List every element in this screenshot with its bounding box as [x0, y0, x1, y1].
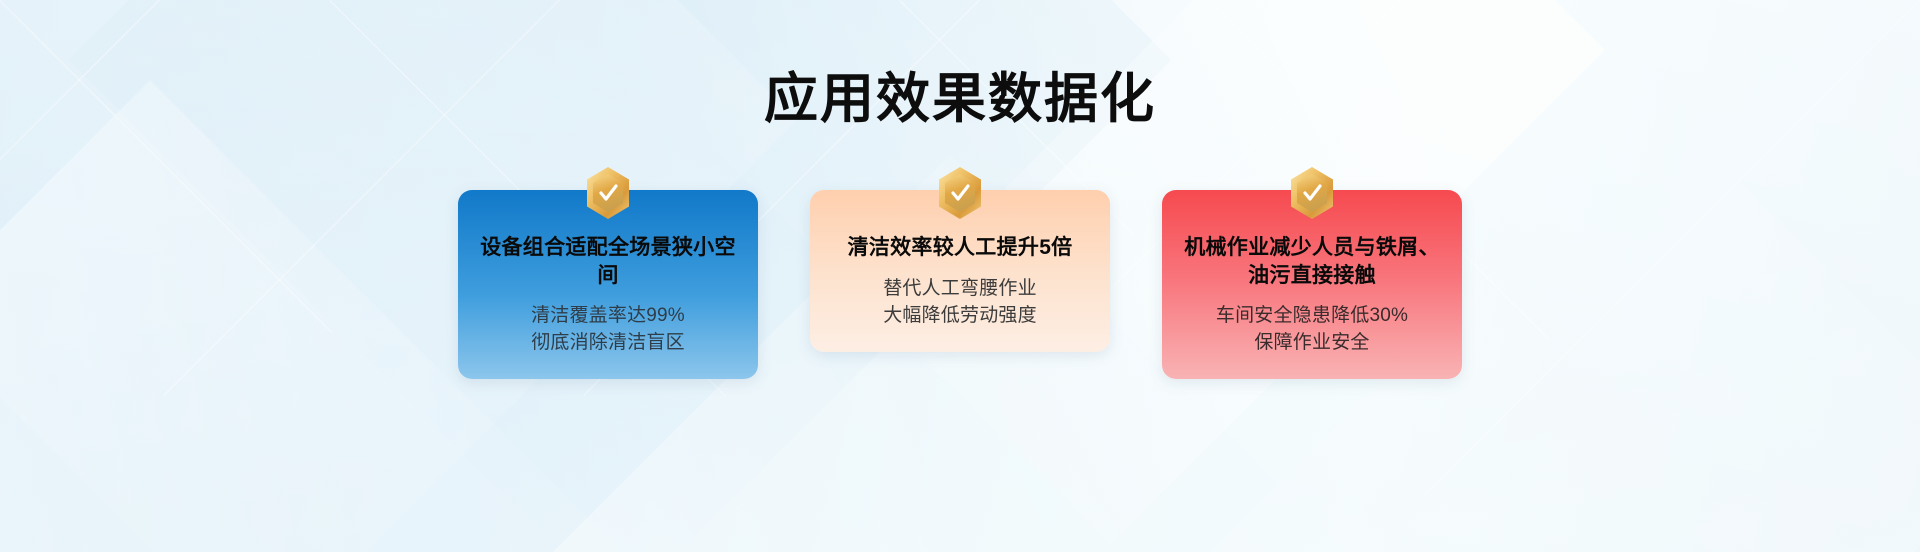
slide-canvas: 应用效果数据化: [0, 0, 1920, 552]
card-list: 设备组合适配全场景狭小空间 清洁覆盖率达99% 彻底消除清洁盲区: [0, 190, 1920, 379]
card-body-line: 替代人工弯腰作业: [826, 276, 1094, 303]
benefit-card-safety[interactable]: 机械作业减少人员与铁屑、油污直接接触 车间安全隐患降低30% 保障作业安全: [1162, 190, 1462, 379]
card-body-line: 彻底消除清洁盲区: [474, 330, 742, 357]
card-body: 清洁覆盖率达99% 彻底消除清洁盲区: [474, 303, 742, 357]
card-title: 清洁效率较人工提升5倍: [826, 234, 1094, 262]
card-body-line: 车间安全隐患降低30%: [1178, 303, 1446, 330]
benefit-card-equipment-coverage[interactable]: 设备组合适配全场景狭小空间 清洁覆盖率达99% 彻底消除清洁盲区: [458, 190, 758, 379]
card-body-line: 保障作业安全: [1178, 330, 1446, 357]
card-body: 车间安全隐患降低30% 保障作业安全: [1178, 303, 1446, 357]
card-body: 替代人工弯腰作业 大幅降低劳动强度: [826, 276, 1094, 330]
card-title: 设备组合适配全场景狭小空间: [474, 234, 742, 289]
hexagon-check-badge-icon: [584, 166, 632, 220]
hexagon-check-badge-icon: [1288, 166, 1336, 220]
card-title: 机械作业减少人员与铁屑、油污直接接触: [1178, 234, 1446, 289]
hexagon-check-badge-icon: [936, 166, 984, 220]
card-body-line: 大幅降低劳动强度: [826, 303, 1094, 330]
page-title: 应用效果数据化: [0, 70, 1920, 129]
card-body-line: 清洁覆盖率达99%: [474, 303, 742, 330]
benefit-card-cleaning-efficiency[interactable]: 清洁效率较人工提升5倍 替代人工弯腰作业 大幅降低劳动强度: [810, 190, 1110, 352]
